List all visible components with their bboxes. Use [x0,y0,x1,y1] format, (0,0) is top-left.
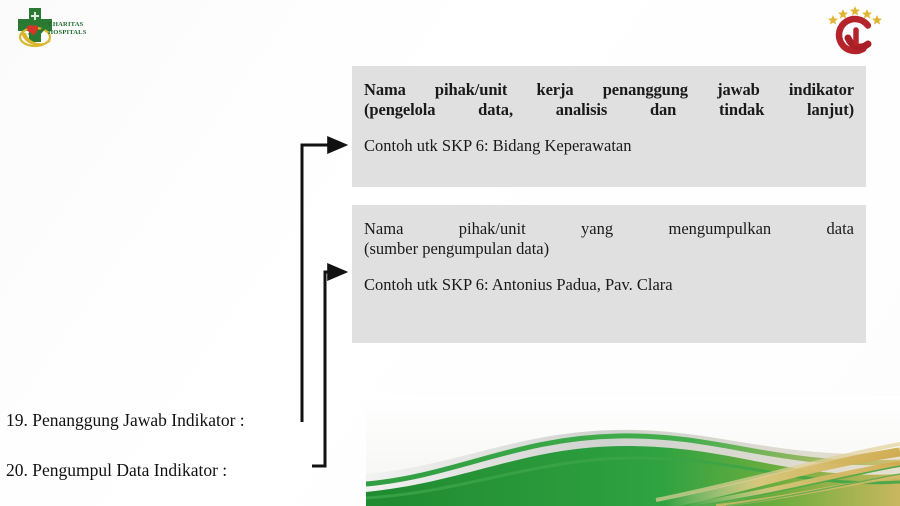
callout-data-collector: Nama pihak/unit yang mengumpulkan data (… [352,205,866,343]
charitas-logo-wordmark: CHARITAS HOSPITALS [48,22,102,37]
kars-accreditation-logo [824,2,886,58]
callout-1-example: Contoh utk SKP 6: Bidang Keperawatan [364,136,854,157]
green-gold-wave-footer [366,396,900,506]
charitas-hospitals-logo: CHARITAS HOSPITALS [8,6,100,54]
connector-responsible-indicator [302,145,344,422]
callout-1-title-line1: Nama pihak/unit kerja penanggung jawab i… [364,80,854,100]
callout-2-example: Contoh utk SKP 6: Antonius Padua, Pav. C… [364,275,854,296]
callout-1-title-line2: (pengelola data, analisis dan tindak lan… [364,100,854,120]
callout-responsible-party: Nama pihak/unit kerja penanggung jawab i… [352,66,866,187]
slide-canvas: CHARITAS HOSPITALS Nama pihak/unit kerja… [0,0,900,506]
charitas-logo-line1: CHARITAS [48,22,102,29]
callout-2-title-line1: Nama pihak/unit yang mengumpulkan data [364,219,854,239]
kars-logo-graphic [824,2,886,58]
wave-footer-graphic [366,396,900,506]
list-item-19-penanggung-jawab-indikator: 19. Penanggung Jawab Indikator : [6,410,245,431]
callout-2-title-line2: (sumber pengumpulan data) [364,239,854,259]
charitas-logo-line2: HOSPITALS [48,30,102,37]
connector-data-collector [312,272,344,466]
list-item-20-pengumpul-data-indikator: 20. Pengumpul Data Indikator : [6,460,227,481]
